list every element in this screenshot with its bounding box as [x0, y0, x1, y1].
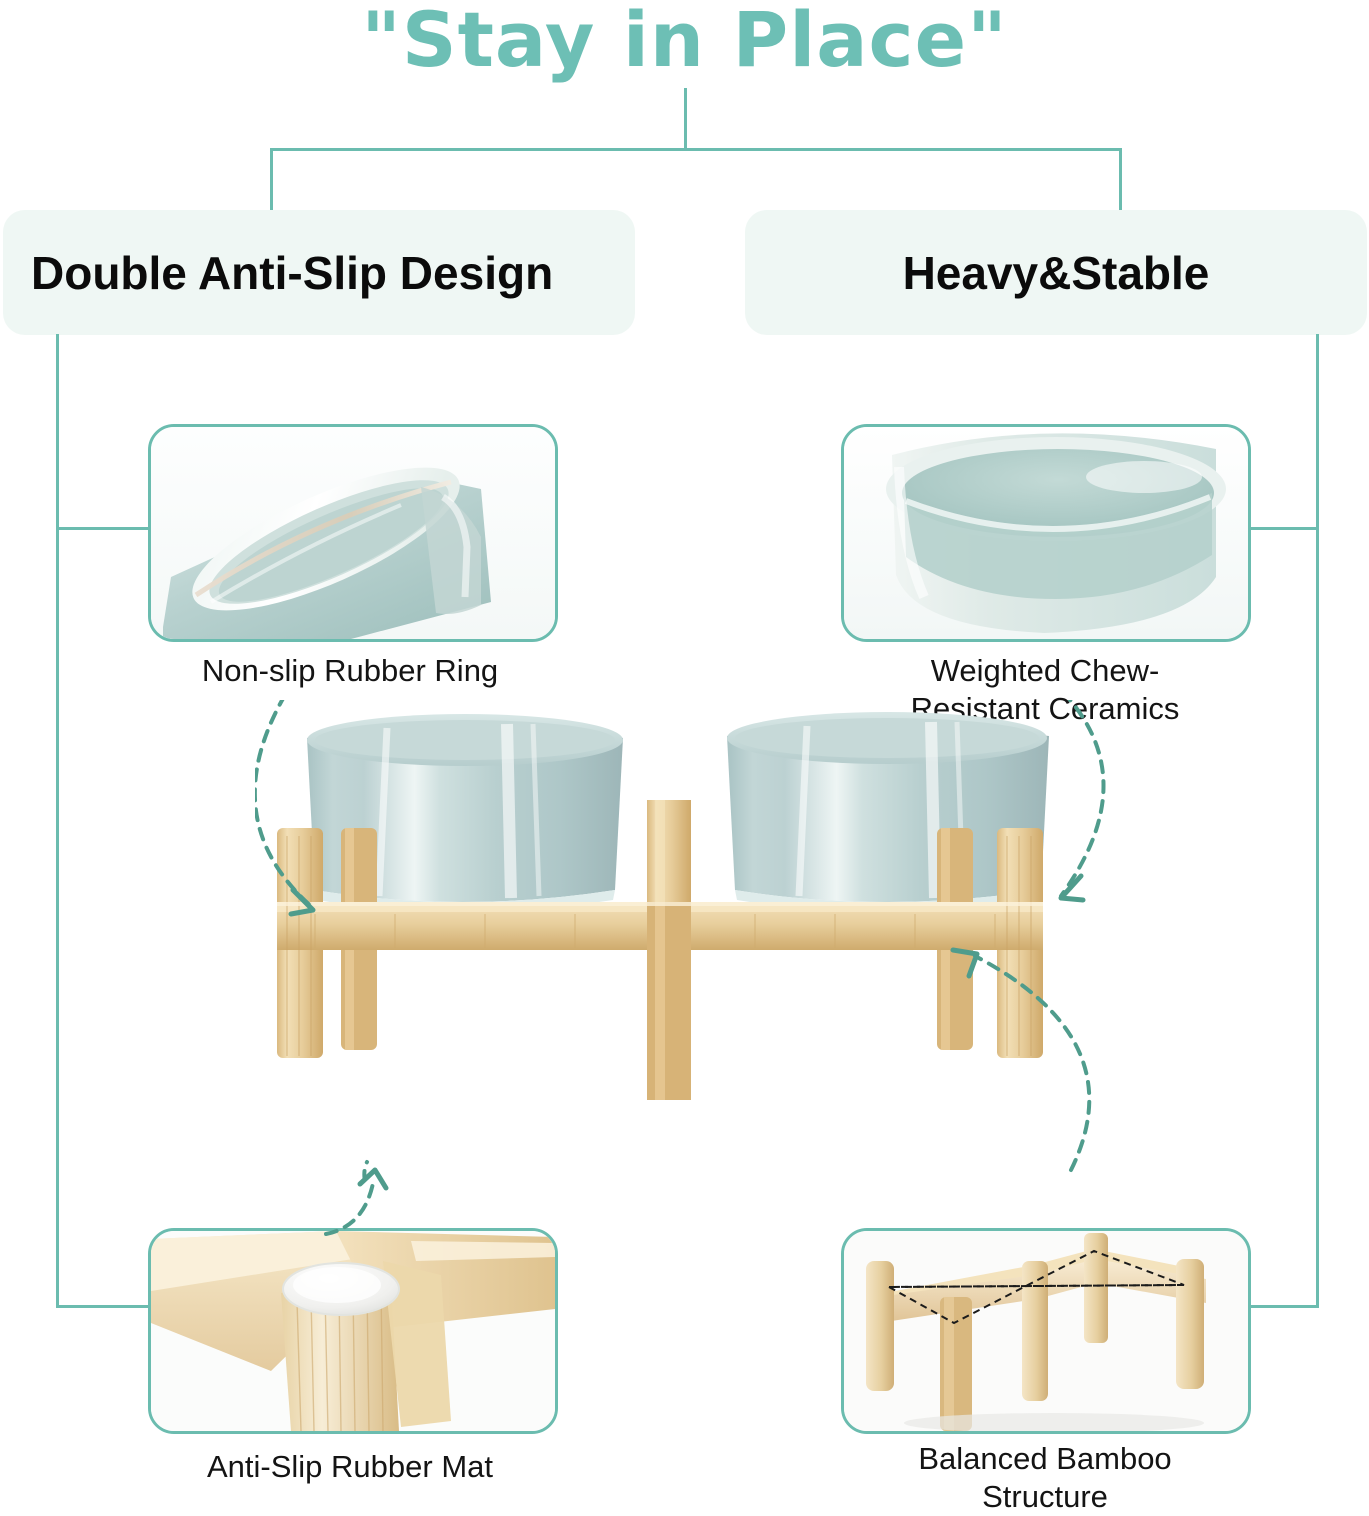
header-left-label: Double Anti-Slip Design [31, 246, 553, 300]
header-right-label: Heavy&Stable [903, 246, 1210, 300]
caption-anti-slip-rubber-mat: Anti-Slip Rubber Mat [140, 1448, 560, 1486]
photo-non-slip-rubber-ring [148, 424, 558, 642]
header-heavy-and-stable: Heavy&Stable [745, 210, 1367, 335]
caption-non-slip-rubber-ring: Non-slip Rubber Ring [140, 652, 560, 690]
bamboo-leg-rubber-pad-closeup-icon [151, 1231, 555, 1431]
elevated-double-ceramic-pet-bowl-with-bamboo-stand-icon [255, 700, 1115, 1180]
connector-top-left-drop [270, 148, 273, 214]
ceramic-bowl-interior-closeup-icon [844, 427, 1248, 639]
connector-title-stem [684, 88, 687, 150]
connector-left-spine [56, 334, 59, 1308]
hero-product-image [255, 700, 1115, 1180]
photo-balanced-bamboo-structure [841, 1228, 1251, 1434]
connector-right-top-branch [1243, 527, 1319, 530]
ceramic-bowl-rim-closeup-icon [151, 427, 555, 639]
bamboo-stand-balance-diagram-icon [844, 1231, 1248, 1431]
connector-top-right-drop [1119, 148, 1122, 214]
connector-top-bar [270, 148, 1122, 151]
header-double-anti-slip-design: Double Anti-Slip Design [3, 210, 635, 335]
photo-weighted-chew-resistant-ceramics [841, 424, 1251, 642]
connector-left-pill-drop [56, 334, 59, 340]
page-title: "Stay in Place" [0, 0, 1369, 86]
connector-right-spine [1316, 334, 1319, 1308]
connector-left-bottom-branch [56, 1305, 152, 1308]
photo-anti-slip-rubber-mat [148, 1228, 558, 1434]
arrow-to-anti-slip-mat [300, 1130, 420, 1240]
arrow-to-bowl-body [1061, 700, 1104, 896]
connector-right-bottom-branch [1243, 1305, 1319, 1308]
caption-balanced-bamboo-structure: Balanced Bamboo Structure [840, 1440, 1250, 1516]
connector-left-top-branch [56, 527, 152, 530]
